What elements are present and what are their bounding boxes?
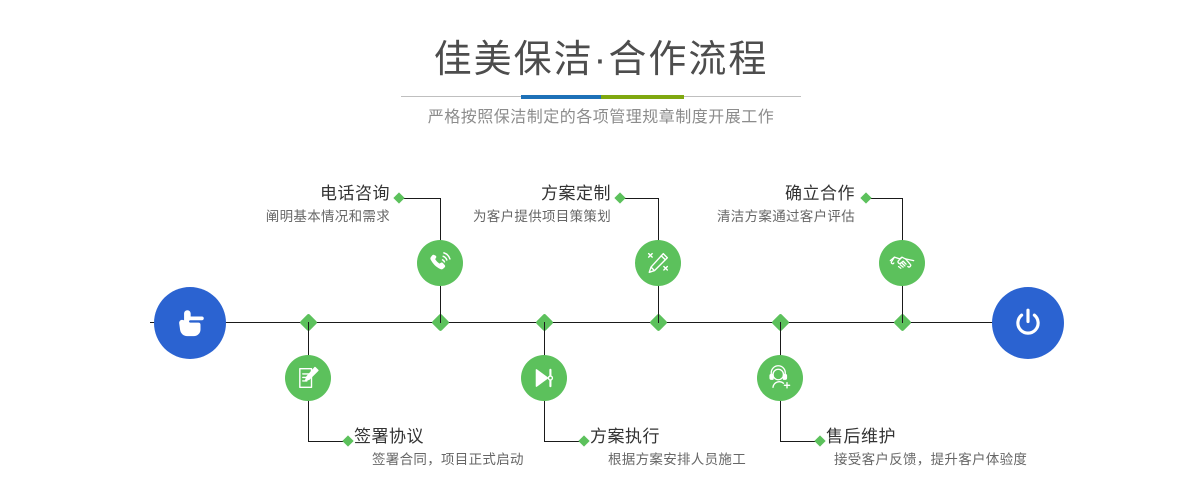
step-desc: 清洁方案通过客户评估: [560, 206, 855, 228]
power-icon: [1010, 305, 1046, 341]
connector-top-3-horizontal: [866, 198, 903, 199]
execute-play-icon: [530, 364, 558, 392]
document-sign-icon: [294, 364, 322, 392]
step-icon-confirm-cooperation[interactable]: [879, 240, 925, 286]
process-timeline: 电话咨询 阐明基本情况和需求 方案定制 为客户提供项目策策划: [0, 150, 1202, 502]
step-title: 确立合作: [560, 182, 855, 206]
customer-support-icon: [766, 364, 794, 392]
step-icon-plan-execution[interactable]: [521, 355, 567, 401]
page-subtitle: 严格按照保洁制定的各项管理规章制度开展工作: [0, 105, 1202, 131]
timeline-axis: [150, 322, 1052, 323]
step-icon-plan-design[interactable]: [635, 240, 681, 286]
handshake-icon: [888, 249, 916, 277]
step-title: 售后维护: [826, 425, 1156, 449]
timeline-start-endpoint[interactable]: [154, 287, 226, 359]
connector-tip-bottom-1: [342, 435, 353, 446]
connector-tip-top-3: [860, 192, 871, 203]
step-icon-phone-consult[interactable]: [417, 240, 463, 286]
step-icon-after-sales[interactable]: [757, 355, 803, 401]
step-label-after-sales: 售后维护 接受客户反馈，提升客户体验度: [826, 425, 1156, 471]
step-icon-sign-agreement[interactable]: [285, 355, 331, 401]
timeline-end-endpoint[interactable]: [992, 287, 1064, 359]
pencil-plan-icon: [644, 249, 672, 277]
divider-segment-blue: [521, 95, 601, 99]
page-title: 佳美保洁·合作流程: [0, 36, 1202, 84]
page-header: 佳美保洁·合作流程 严格按照保洁制定的各项管理规章制度开展工作: [0, 0, 1202, 150]
phone-call-icon: [426, 249, 454, 277]
step-label-confirm-cooperation: 确立合作 清洁方案通过客户评估: [560, 182, 855, 228]
title-divider: [401, 95, 801, 99]
step-desc: 接受客户反馈，提升客户体验度: [826, 449, 1156, 471]
divider-segment-green: [601, 95, 684, 99]
pointing-hand-icon: [172, 305, 208, 341]
